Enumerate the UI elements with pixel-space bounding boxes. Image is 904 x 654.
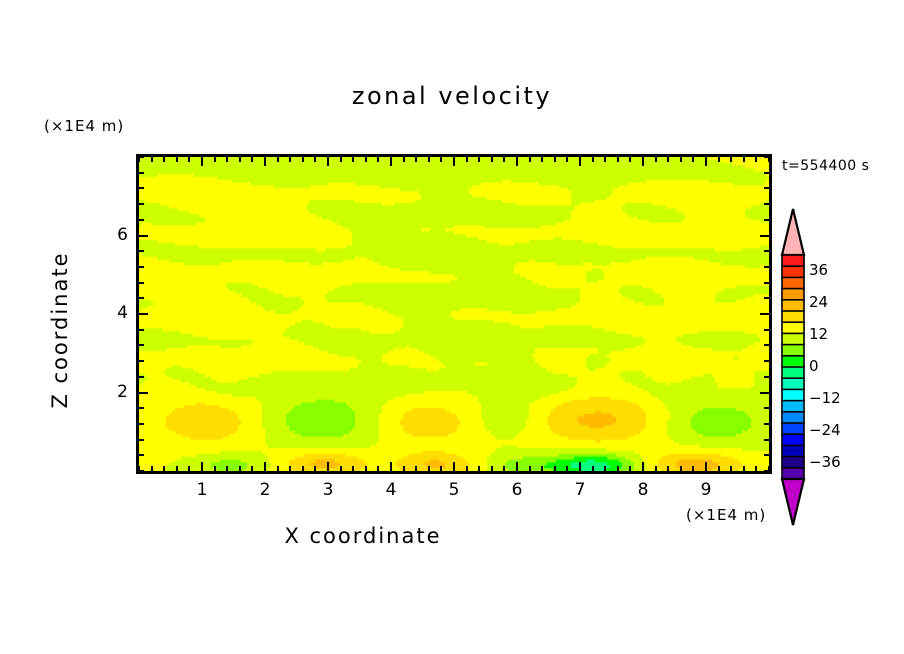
x-minor-tick-top: [604, 157, 606, 162]
x-minor-tick: [440, 466, 442, 471]
y-minor-tick: [139, 344, 144, 346]
colorbar-band: [782, 389, 804, 401]
x-major-tick-top: [390, 157, 392, 166]
x-minor-tick-top: [503, 157, 505, 162]
x-tick-label: 8: [628, 480, 658, 500]
x-minor-tick: [604, 466, 606, 471]
x-major-tick: [327, 462, 329, 471]
x-minor-tick: [680, 466, 682, 471]
x-minor-tick-top: [226, 157, 228, 162]
colorbar-tick-label: 36: [809, 261, 828, 279]
colorbar-band: [782, 255, 804, 267]
y-minor-tick-right: [764, 360, 769, 362]
colorbar-tick-label: 24: [809, 293, 828, 311]
colorbar-band: [782, 311, 804, 323]
colorbar: 3624120−12−24−36: [779, 206, 807, 532]
x-minor-tick: [529, 466, 531, 471]
x-minor-tick-top: [365, 157, 367, 162]
x-minor-tick: [415, 466, 417, 471]
y-axis-unit-label: (×1E4 m): [44, 117, 124, 135]
x-minor-tick-top: [251, 157, 253, 162]
x-minor-tick-top: [214, 157, 216, 162]
x-minor-tick: [592, 466, 594, 471]
y-minor-tick-right: [764, 407, 769, 409]
y-minor-tick-right: [764, 219, 769, 221]
x-minor-tick: [226, 466, 228, 471]
x-minor-tick-top: [428, 157, 430, 162]
x-minor-tick-top: [529, 157, 531, 162]
y-minor-tick-right: [764, 423, 769, 425]
y-major-tick-right: [760, 235, 769, 237]
y-minor-tick: [139, 250, 144, 252]
colorbar-tick-label: 0: [809, 357, 819, 375]
x-minor-tick-top: [176, 157, 178, 162]
x-major-tick: [705, 462, 707, 471]
colorbar-band: [782, 457, 804, 469]
y-minor-tick: [139, 297, 144, 299]
x-major-tick-top: [642, 157, 644, 166]
x-minor-tick: [403, 466, 405, 471]
x-minor-tick-top: [491, 157, 493, 162]
y-minor-tick-right: [764, 156, 769, 158]
x-minor-tick: [302, 466, 304, 471]
x-tick-label: 9: [691, 480, 721, 500]
x-minor-tick: [214, 466, 216, 471]
x-minor-tick-top: [692, 157, 694, 162]
colorbar-band: [782, 300, 804, 312]
x-major-tick-top: [327, 157, 329, 166]
x-minor-tick: [289, 466, 291, 471]
x-minor-tick: [503, 466, 505, 471]
x-minor-tick-top: [239, 157, 241, 162]
x-minor-tick: [718, 466, 720, 471]
x-minor-tick: [478, 466, 480, 471]
x-minor-tick: [314, 466, 316, 471]
x-major-tick-top: [579, 157, 581, 166]
x-tick-label: 3: [313, 480, 343, 500]
y-major-tick-right: [760, 313, 769, 315]
y-major-tick-right: [760, 392, 769, 394]
y-axis-title: Z coordinate: [48, 210, 72, 450]
y-minor-tick-right: [764, 297, 769, 299]
x-minor-tick-top: [592, 157, 594, 162]
colorbar-band: [782, 445, 804, 457]
x-axis-title: X coordinate: [0, 524, 726, 548]
x-minor-tick: [755, 466, 757, 471]
y-tick-label: 2: [98, 382, 128, 402]
colorbar-tick-label: −24: [809, 421, 841, 439]
y-minor-tick: [139, 203, 144, 205]
y-minor-tick-right: [764, 454, 769, 456]
x-minor-tick-top: [667, 157, 669, 162]
y-minor-tick-right: [764, 282, 769, 284]
x-major-tick: [264, 462, 266, 471]
x-minor-tick-top: [718, 157, 720, 162]
x-minor-tick: [730, 466, 732, 471]
x-minor-tick: [541, 466, 543, 471]
x-minor-tick-top: [163, 157, 165, 162]
colorbar-band: [782, 266, 804, 278]
y-minor-tick-right: [764, 203, 769, 205]
y-minor-tick: [139, 219, 144, 221]
contour-plot-figure: zonal velocity (×1E4 m) t=554400 s 12345…: [0, 0, 904, 654]
plot-area: [136, 154, 772, 474]
x-minor-tick: [491, 466, 493, 471]
x-tick-label: 1: [187, 480, 217, 500]
x-minor-tick: [188, 466, 190, 471]
x-minor-tick-top: [340, 157, 342, 162]
x-major-tick: [579, 462, 581, 471]
x-tick-label: 2: [250, 480, 280, 500]
colorbar-band: [782, 345, 804, 357]
x-minor-tick: [554, 466, 556, 471]
x-minor-tick-top: [730, 157, 732, 162]
colorbar-band: [782, 367, 804, 379]
x-minor-tick-top: [566, 157, 568, 162]
x-axis-unit-label: (×1E4 m): [686, 506, 766, 524]
colorbar-under-arrow: [782, 479, 804, 525]
y-minor-tick-right: [764, 439, 769, 441]
y-minor-tick: [139, 329, 144, 331]
y-minor-tick-right: [764, 187, 769, 189]
y-minor-tick: [139, 470, 144, 472]
x-minor-tick-top: [541, 157, 543, 162]
y-minor-tick-right: [764, 470, 769, 472]
y-minor-tick-right: [764, 250, 769, 252]
x-minor-tick-top: [554, 157, 556, 162]
x-minor-tick: [692, 466, 694, 471]
colorbar-tick-label: 12: [809, 325, 828, 343]
x-minor-tick-top: [629, 157, 631, 162]
x-major-tick: [642, 462, 644, 471]
x-minor-tick-top: [151, 157, 153, 162]
y-major-tick: [139, 235, 148, 237]
x-minor-tick-top: [755, 157, 757, 162]
x-minor-tick-top: [277, 157, 279, 162]
x-major-tick: [516, 462, 518, 471]
y-minor-tick: [139, 360, 144, 362]
y-minor-tick-right: [764, 344, 769, 346]
y-minor-tick: [139, 266, 144, 268]
x-major-tick: [201, 462, 203, 471]
x-tick-label: 6: [502, 480, 532, 500]
x-minor-tick: [566, 466, 568, 471]
x-major-tick: [453, 462, 455, 471]
x-tick-label: 7: [565, 480, 595, 500]
y-minor-tick-right: [764, 329, 769, 331]
y-minor-tick-right: [764, 376, 769, 378]
x-minor-tick: [251, 466, 253, 471]
x-minor-tick-top: [415, 157, 417, 162]
x-minor-tick-top: [302, 157, 304, 162]
x-major-tick-top: [453, 157, 455, 166]
y-minor-tick: [139, 407, 144, 409]
y-minor-tick-right: [764, 266, 769, 268]
x-minor-tick: [239, 466, 241, 471]
y-minor-tick: [139, 454, 144, 456]
colorbar-band: [782, 277, 804, 289]
colorbar-band: [782, 289, 804, 301]
x-minor-tick: [163, 466, 165, 471]
colorbar-band: [782, 434, 804, 446]
colorbar-band: [782, 412, 804, 424]
colorbar-band: [782, 322, 804, 334]
colorbar-band: [782, 401, 804, 413]
x-minor-tick-top: [188, 157, 190, 162]
x-minor-tick-top: [352, 157, 354, 162]
x-minor-tick: [340, 466, 342, 471]
colorbar-band: [782, 333, 804, 345]
x-major-tick-top: [516, 157, 518, 166]
x-minor-tick: [629, 466, 631, 471]
x-major-tick-top: [705, 157, 707, 166]
y-minor-tick-right: [764, 172, 769, 174]
contour-field: [139, 157, 769, 471]
x-minor-tick-top: [680, 157, 682, 162]
colorbar-over-arrow: [782, 209, 804, 255]
x-minor-tick: [428, 466, 430, 471]
x-minor-tick: [743, 466, 745, 471]
x-minor-tick-top: [655, 157, 657, 162]
y-tick-label: 6: [98, 225, 128, 245]
x-minor-tick: [277, 466, 279, 471]
colorbar-band: [782, 423, 804, 435]
y-minor-tick: [139, 187, 144, 189]
x-minor-tick-top: [314, 157, 316, 162]
x-minor-tick-top: [403, 157, 405, 162]
y-minor-tick: [139, 282, 144, 284]
x-major-tick-top: [264, 157, 266, 166]
x-minor-tick: [655, 466, 657, 471]
x-minor-tick-top: [478, 157, 480, 162]
colorbar-band: [782, 356, 804, 368]
x-minor-tick: [667, 466, 669, 471]
x-minor-tick: [466, 466, 468, 471]
colorbar-band: [782, 468, 804, 480]
x-major-tick: [390, 462, 392, 471]
y-minor-tick: [139, 156, 144, 158]
x-minor-tick-top: [377, 157, 379, 162]
y-minor-tick: [139, 423, 144, 425]
x-minor-tick: [151, 466, 153, 471]
x-minor-tick: [176, 466, 178, 471]
y-minor-tick: [139, 172, 144, 174]
y-major-tick: [139, 392, 148, 394]
x-minor-tick: [377, 466, 379, 471]
x-minor-tick-top: [466, 157, 468, 162]
x-minor-tick: [365, 466, 367, 471]
y-minor-tick: [139, 376, 144, 378]
time-annotation: t=554400 s: [782, 158, 869, 174]
x-minor-tick-top: [440, 157, 442, 162]
x-minor-tick: [352, 466, 354, 471]
x-minor-tick: [617, 466, 619, 471]
page-title: zonal velocity: [0, 82, 904, 110]
y-major-tick: [139, 313, 148, 315]
y-minor-tick: [139, 439, 144, 441]
colorbar-band: [782, 378, 804, 390]
x-minor-tick-top: [289, 157, 291, 162]
x-tick-label: 5: [439, 480, 469, 500]
colorbar-tick-label: −36: [809, 453, 841, 471]
x-tick-label: 4: [376, 480, 406, 500]
x-major-tick-top: [201, 157, 203, 166]
y-tick-label: 4: [98, 303, 128, 323]
x-minor-tick-top: [617, 157, 619, 162]
x-minor-tick-top: [743, 157, 745, 162]
colorbar-tick-label: −12: [809, 389, 841, 407]
